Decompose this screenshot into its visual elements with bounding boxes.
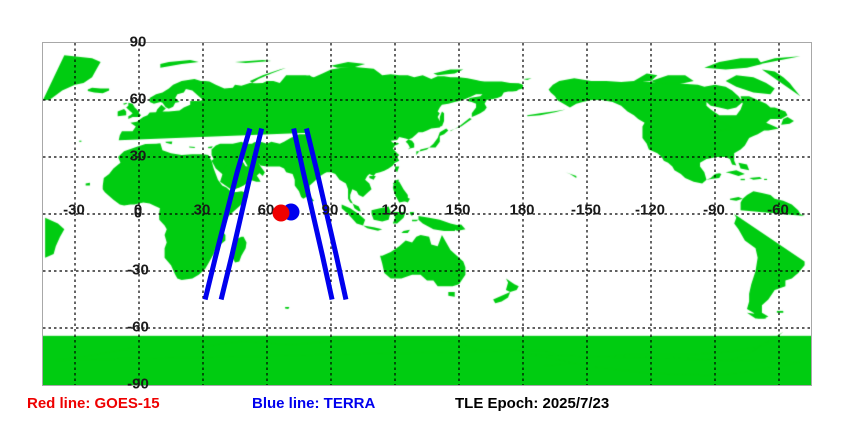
map-plot-area[interactable] <box>42 42 812 386</box>
y-tick-label-0: 0 <box>134 206 142 221</box>
x-tick-label-neg90: -90 <box>703 203 725 218</box>
y-tick-label-neg60: -60 <box>127 320 149 335</box>
y-tick-label-30: 30 <box>130 149 147 164</box>
y-tick-label-60: 60 <box>130 92 147 107</box>
x-tick-label-120: 120 <box>381 203 406 218</box>
x-tick-label-neg150: -150 <box>571 203 601 218</box>
legend-red-line-goes-15: Red line: GOES-15 <box>27 396 160 411</box>
x-tick-label-30: 30 <box>194 203 211 218</box>
x-tick-label-180: 180 <box>509 203 534 218</box>
ground-track-map-app: -300306090120150180-150-120-90-609060300… <box>0 0 850 425</box>
x-tick-label-neg120: -120 <box>635 203 665 218</box>
satellite-marker-goes-15[interactable] <box>272 205 289 222</box>
x-tick-label-neg60: -60 <box>767 203 789 218</box>
y-tick-label-90: 90 <box>130 35 147 50</box>
legend-tle-epoch: TLE Epoch: 2025/7/23 <box>455 396 609 411</box>
x-tick-label-neg30: -30 <box>63 203 85 218</box>
x-tick-label-90: 90 <box>322 203 339 218</box>
legend-bar: Red line: GOES-15 Blue line: TERRA TLE E… <box>0 396 850 421</box>
y-tick-label-neg90: -90 <box>127 377 149 392</box>
world-map-landmass <box>43 43 811 385</box>
y-tick-label-neg30: -30 <box>127 263 149 278</box>
legend-blue-line-terra: Blue line: TERRA <box>252 396 375 411</box>
x-tick-label-150: 150 <box>445 203 470 218</box>
